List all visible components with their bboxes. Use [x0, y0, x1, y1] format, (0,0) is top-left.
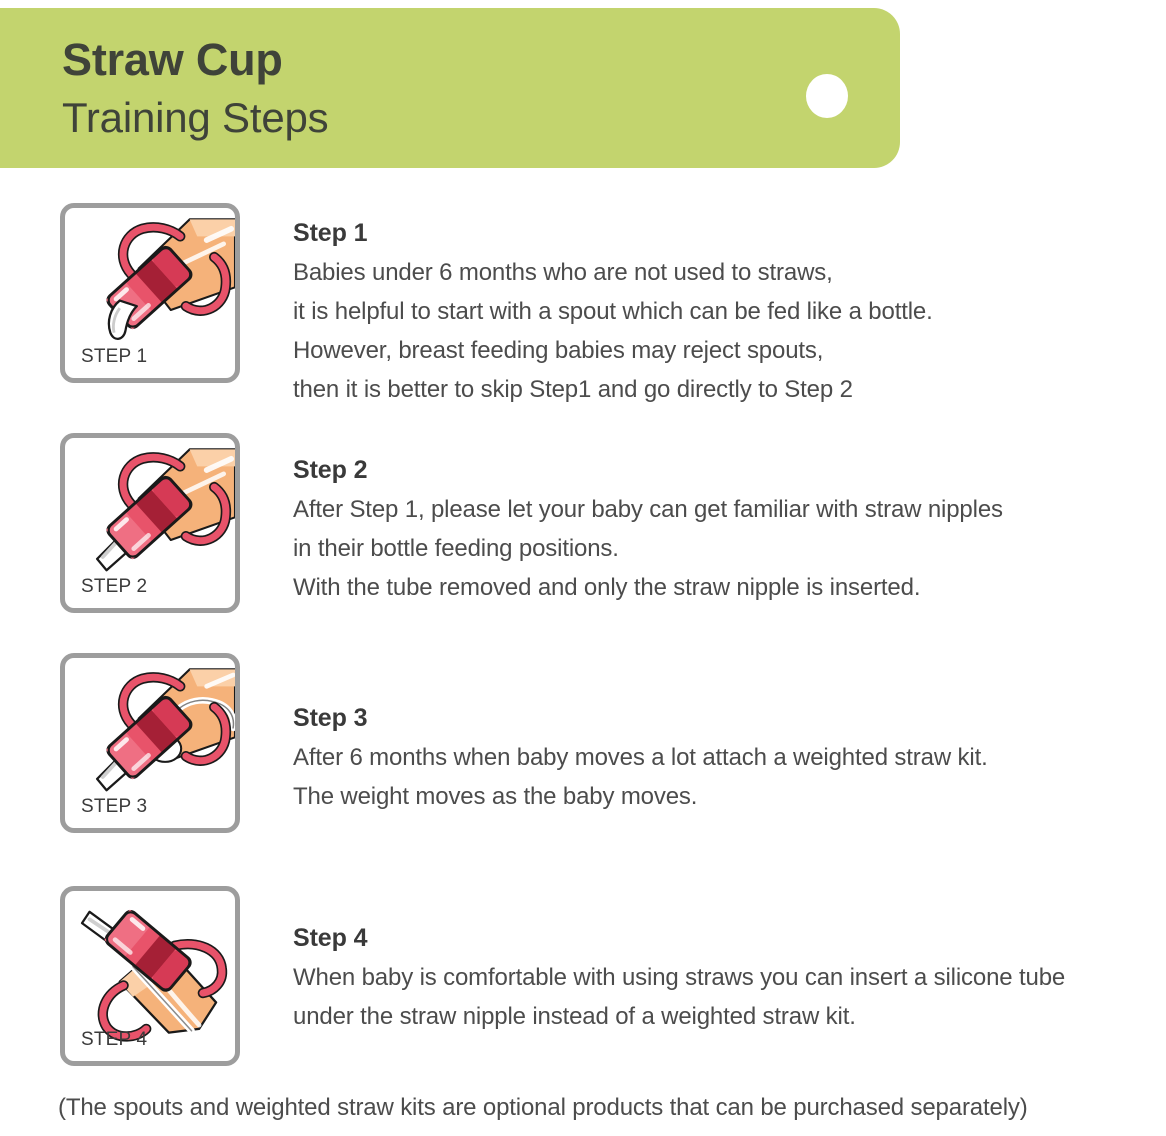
- page-title-sub: Training Steps: [62, 96, 328, 140]
- step-1-line-2: it is helpful to start with a spout whic…: [293, 293, 1153, 332]
- step-1-icon-box: STEP 1: [60, 203, 240, 383]
- page-title-main: Straw Cup: [62, 36, 283, 83]
- step-1-line-4: then it is better to skip Step1 and go d…: [293, 371, 1153, 410]
- step-4-line-2: under the straw nipple instead of a weig…: [293, 998, 1153, 1037]
- step-2-text: Step 2 After Step 1, please let your bab…: [293, 455, 1153, 608]
- step-3-caption: STEP 3: [81, 796, 147, 818]
- step-3-heading: Step 3: [293, 703, 1153, 734]
- step-4-text: Step 4 When baby is comfortable with usi…: [293, 923, 1153, 1037]
- step-2-line-3: With the tube removed and only the straw…: [293, 569, 1153, 608]
- step-1-line-1: Babies under 6 months who are not used t…: [293, 254, 1153, 293]
- step-2-line-1: After Step 1, please let your baby can g…: [293, 491, 1153, 530]
- step-4-caption: STEP 4: [81, 1029, 147, 1051]
- footnote: (The spouts and weighted straw kits are …: [58, 1094, 1028, 1122]
- header-banner: Straw Cup Training Steps: [0, 8, 900, 168]
- step-3-text: Step 3 After 6 months when baby moves a …: [293, 703, 1153, 817]
- step-1-text: Step 1 Babies under 6 months who are not…: [293, 218, 1153, 410]
- step-1-heading: Step 1: [293, 218, 1153, 249]
- step-3-icon-box: STEP 3: [60, 653, 240, 833]
- step-2-caption: STEP 2: [81, 576, 147, 598]
- step-1-caption: STEP 1: [81, 346, 147, 368]
- step-3-line-1: After 6 months when baby moves a lot att…: [293, 739, 1153, 778]
- step-2-heading: Step 2: [293, 455, 1153, 486]
- step-4-icon-box: STEP 4: [60, 886, 240, 1066]
- punch-hole-icon: [806, 74, 848, 118]
- step-2-line-2: in their bottle feeding positions.: [293, 530, 1153, 569]
- step-1-line-3: However, breast feeding babies may rejec…: [293, 332, 1153, 371]
- step-3-line-2: The weight moves as the baby moves.: [293, 778, 1153, 817]
- step-4-heading: Step 4: [293, 923, 1153, 954]
- step-2-icon-box: STEP 2: [60, 433, 240, 613]
- step-4-line-1: When baby is comfortable with using stra…: [293, 959, 1153, 998]
